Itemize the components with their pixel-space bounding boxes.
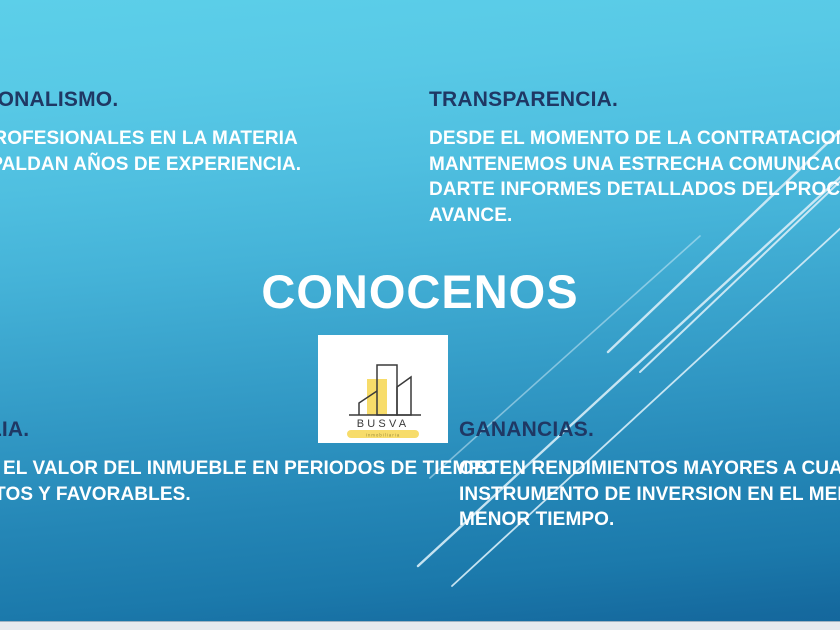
block-body-transparencia: DESDE EL MOMENTO DE LA CONTRATACION MANT… bbox=[429, 126, 840, 229]
text-block-plusvalia: PLUSVALIA. AUMENTA EL VALOR DEL INMUEBLE… bbox=[0, 418, 496, 507]
body-line: DESDE EL MOMENTO DE LA CONTRATACION bbox=[429, 126, 840, 152]
block-body-profesionalismo: SOMOS PROFESIONALES EN LA MATERIA QUE RE… bbox=[0, 126, 301, 177]
block-heading-plusvalia: PLUSVALIA. bbox=[0, 418, 496, 442]
block-body-plusvalia: AUMENTA EL VALOR DEL INMUEBLE EN PERIODO… bbox=[0, 456, 496, 507]
body-line: INSTRUMENTO DE INVERSION EN EL MERCADO E… bbox=[459, 482, 840, 508]
presentation-slide: PROFESIONALISMO. SOMOS PROFESIONALES EN … bbox=[0, 0, 840, 630]
body-line: AUMENTA EL VALOR DEL INMUEBLE EN PERIODO… bbox=[0, 456, 496, 482]
text-block-profesionalismo: PROFESIONALISMO. SOMOS PROFESIONALES EN … bbox=[0, 88, 301, 177]
slide-bottom-edge bbox=[0, 621, 840, 630]
block-heading-profesionalismo: PROFESIONALISMO. bbox=[0, 88, 301, 112]
body-line: MENOR TIEMPO. bbox=[459, 507, 840, 533]
block-heading-ganancias: GANANCIAS. bbox=[459, 418, 840, 442]
slide-title: CONOCENOS bbox=[0, 268, 840, 315]
body-line: QUE RESPALDAN AÑOS DE EXPERIENCIA. bbox=[0, 152, 301, 178]
text-block-ganancias: GANANCIAS. OBTEN RENDIMIENTOS MAYORES A … bbox=[459, 418, 840, 533]
body-line: MUY CORTOS Y FAVORABLES. bbox=[0, 482, 496, 508]
text-block-transparencia: TRANSPARENCIA. DESDE EL MOMENTO DE LA CO… bbox=[429, 88, 840, 229]
body-line: DARTE INFORMES DETALLADOS DEL PROCESO Y … bbox=[429, 177, 840, 203]
block-body-ganancias: OBTEN RENDIMIENTOS MAYORES A CUALQUIER I… bbox=[459, 456, 840, 533]
body-line: MANTENEMOS UNA ESTRECHA COMUNICACION PAR… bbox=[429, 152, 840, 178]
block-heading-transparencia: TRANSPARENCIA. bbox=[429, 88, 840, 112]
body-line: AVANCE. bbox=[429, 203, 840, 229]
body-line: OBTEN RENDIMIENTOS MAYORES A CUALQUIER bbox=[459, 456, 840, 482]
body-line: SOMOS PROFESIONALES EN LA MATERIA bbox=[0, 126, 301, 152]
